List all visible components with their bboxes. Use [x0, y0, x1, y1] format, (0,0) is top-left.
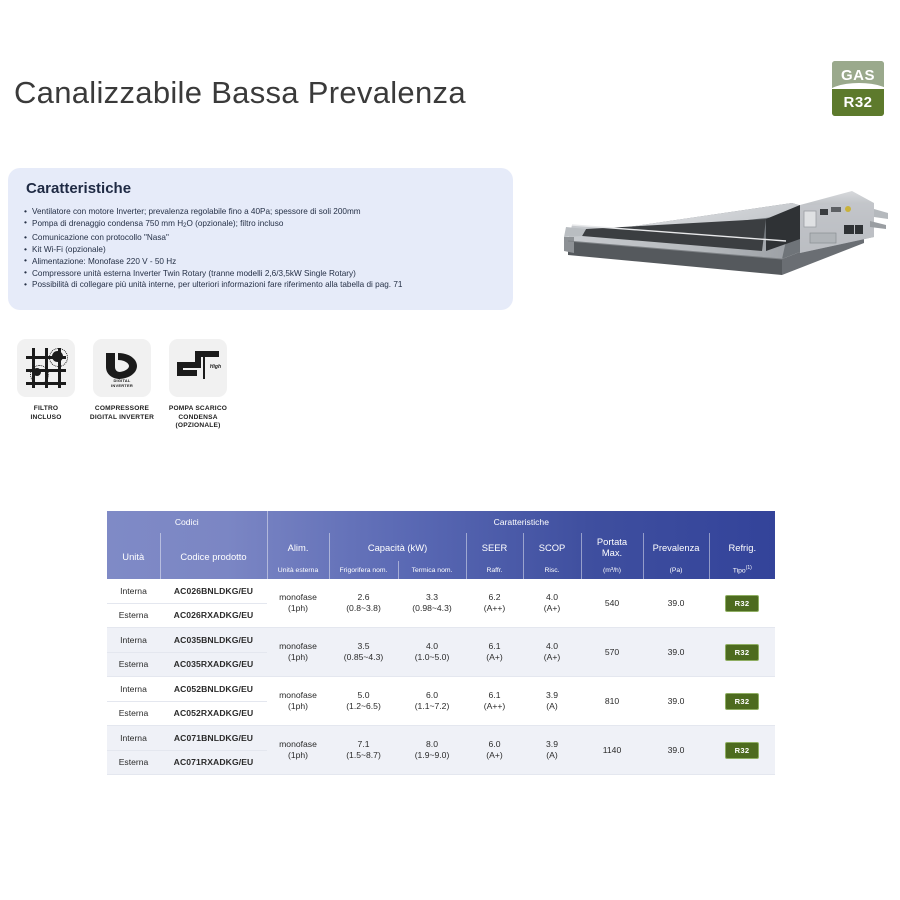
- cell-unita: Interna: [107, 677, 160, 702]
- header-refrig-tipo: Tipo: [733, 568, 746, 575]
- header-portata-sub: (m³/h): [581, 561, 643, 579]
- di-logo-shape: [104, 351, 140, 381]
- header-seer-sub: Raffr.: [466, 561, 523, 579]
- features-list: Ventilatore con motore Inverter; prevale…: [24, 206, 503, 291]
- specifications-table: Codici Caratteristiche Unità Codice prod…: [107, 511, 775, 775]
- digital-inverter-icon: DIGITAL INVERTER: [93, 339, 151, 397]
- high-label: High: [210, 364, 221, 370]
- icon-caption: FILTRO INCLUSO: [12, 405, 80, 422]
- cell-capacita-termica: 3.3(0.98~4.3): [398, 579, 466, 628]
- cell-alimentazione: monofase(1ph): [267, 726, 329, 775]
- header-group-codici: Codici: [107, 511, 267, 533]
- cell-portata-max: 540: [581, 579, 643, 628]
- header-portata-line1: Portata: [582, 536, 643, 547]
- header-alim-sub: Unità esterna: [267, 561, 329, 579]
- feature-item: Comunicazione con protocollo "Nasa": [24, 232, 503, 244]
- table-body: InternaAC026BNLDKG/EUmonofase(1ph)2.6(0.…: [107, 579, 775, 775]
- header-portata-max: Portata Max.: [581, 533, 643, 561]
- feature-text-suffix: O (opzionale); filtro incluso: [186, 219, 283, 228]
- table-head: Codici Caratteristiche Unità Codice prod…: [107, 511, 775, 579]
- header-group-caratteristiche: Caratteristiche: [267, 511, 775, 533]
- drain-pump-graphic: High: [177, 351, 219, 383]
- header-unita: Unità: [107, 533, 160, 579]
- cell-capacita-frigorifera: 3.5(0.85~4.3): [329, 628, 398, 677]
- drain-pump-icon: High: [169, 339, 227, 397]
- cell-unita: Esterna: [107, 603, 160, 628]
- refrigerant-badge: R32: [725, 742, 760, 759]
- icon-badge-compressore-digital-inverter: DIGITAL INVERTER COMPRESSORE DIGITAL INV…: [88, 339, 156, 422]
- ducted-unit-illustration: [552, 163, 888, 315]
- features-panel: Caratteristiche Ventilatore con motore I…: [8, 168, 513, 310]
- cell-seer: 6.1(A+): [466, 628, 523, 677]
- cell-unita: Esterna: [107, 701, 160, 726]
- cell-prevalenza: 39.0: [643, 677, 709, 726]
- header-refrig-sub: Tipo(1): [709, 561, 775, 579]
- cell-capacita-termica: 6.0(1.1~7.2): [398, 677, 466, 726]
- icon-caption-line: (OPZIONALE): [164, 422, 232, 431]
- header-seer: SEER: [466, 533, 523, 561]
- cell-codice-prodotto: AC035RXADKG/EU: [160, 652, 267, 677]
- digital-inverter-wordmark: DIGITAL INVERTER: [104, 378, 140, 388]
- header-codice-prodotto: Codice prodotto: [160, 533, 267, 579]
- header-alim: Alim.: [267, 533, 329, 561]
- feature-item: Compressore unità esterna Inverter Twin …: [24, 268, 503, 280]
- refrigerant-badge: R32: [725, 644, 760, 661]
- cell-scop: 3.9(A): [523, 726, 581, 775]
- icon-badge-filtro-incluso: FILTRO INCLUSO: [12, 339, 80, 422]
- icon-caption-line: DIGITAL INVERTER: [88, 414, 156, 423]
- header-prevalenza-sub: (Pa): [643, 561, 709, 579]
- header-refrig: Refrig.: [709, 533, 775, 561]
- cell-codice-prodotto: AC026RXADKG/EU: [160, 603, 267, 628]
- cell-unita: Interna: [107, 726, 160, 751]
- header-portata-line2: Max.: [582, 547, 643, 558]
- icon-badge-pompa-scarico-condensa: High POMPA SCARICO CONDENSA (OPZIONALE): [164, 339, 232, 431]
- cell-seer: 6.0(A+): [466, 726, 523, 775]
- cell-capacita-frigorifera: 7.1(1.5~8.7): [329, 726, 398, 775]
- cell-scop: 4.0(A+): [523, 628, 581, 677]
- cell-prevalenza: 39.0: [643, 628, 709, 677]
- cell-unita: Esterna: [107, 750, 160, 775]
- icon-caption-line: CONDENSA: [164, 414, 232, 423]
- feature-item: Possibilità di collegare più unità inter…: [24, 279, 503, 291]
- header-capacita: Capacità (kW): [329, 533, 466, 561]
- icon-caption-line: FILTRO: [12, 405, 80, 414]
- refrigerant-badge: R32: [725, 693, 760, 710]
- header-capacita-frigorifera: Frigorifera nom.: [329, 561, 398, 579]
- feature-item: Alimentazione: Monofase 220 V - 50 Hz: [24, 256, 503, 268]
- icon-caption-line: INCLUSO: [12, 414, 80, 423]
- cell-portata-max: 570: [581, 628, 643, 677]
- feature-item: Kit Wi-Fi (opzionale): [24, 244, 503, 256]
- feature-text-prefix: Pompa di drenaggio condensa 750 mm H: [32, 219, 183, 228]
- product-image-ducted-unit: [552, 163, 888, 315]
- header-scop-sub: Risc.: [523, 561, 581, 579]
- cell-codice-prodotto: AC035BNLDKG/EU: [160, 628, 267, 653]
- cell-codice-prodotto: AC026BNLDKG/EU: [160, 579, 267, 603]
- cell-scop: 3.9(A): [523, 677, 581, 726]
- table-row: InternaAC071BNLDKG/EUmonofase(1ph)7.1(1.…: [107, 726, 775, 751]
- cell-capacita-frigorifera: 2.6(0.8~3.8): [329, 579, 398, 628]
- r32-label: R32: [832, 89, 884, 116]
- cell-refrigerante: R32: [709, 579, 775, 628]
- table-header-main-row: Unità Codice prodotto Alim. Capacità (kW…: [107, 533, 775, 561]
- header-prevalenza: Prevalenza: [643, 533, 709, 561]
- cell-codice-prodotto: AC052RXADKG/EU: [160, 701, 267, 726]
- digital-inverter-graphic: DIGITAL INVERTER: [104, 351, 140, 387]
- specifications-table-wrapper: Codici Caratteristiche Unità Codice prod…: [107, 511, 775, 775]
- header-scop: SCOP: [523, 533, 581, 561]
- features-heading: Caratteristiche: [26, 180, 131, 197]
- cell-capacita-termica: 8.0(1.9~9.0): [398, 726, 466, 775]
- cell-prevalenza: 39.0: [643, 579, 709, 628]
- cell-portata-max: 810: [581, 677, 643, 726]
- cell-unita: Esterna: [107, 652, 160, 677]
- cell-refrigerante: R32: [709, 677, 775, 726]
- cell-unita: Interna: [107, 628, 160, 653]
- header-capacita-termica: Termica nom.: [398, 561, 466, 579]
- cell-refrigerante: R32: [709, 628, 775, 677]
- cell-capacita-frigorifera: 5.0(1.2~6.5): [329, 677, 398, 726]
- cell-unita: Interna: [107, 579, 160, 603]
- cell-alimentazione: monofase(1ph): [267, 677, 329, 726]
- table-row: InternaAC026BNLDKG/EUmonofase(1ph)2.6(0.…: [107, 579, 775, 603]
- germ-icon: [33, 368, 41, 376]
- feature-item: Ventilatore con motore Inverter; prevale…: [24, 206, 503, 218]
- header-refrig-footnote: (1): [746, 565, 752, 571]
- page-title: Canalizzabile Bassa Prevalenza: [14, 75, 466, 111]
- cell-codice-prodotto: AC052BNLDKG/EU: [160, 677, 267, 702]
- cell-portata-max: 1140: [581, 726, 643, 775]
- cell-seer: 6.2(A++): [466, 579, 523, 628]
- cell-refrigerante: R32: [709, 726, 775, 775]
- filter-icon: [17, 339, 75, 397]
- cell-scop: 4.0(A+): [523, 579, 581, 628]
- icon-caption: COMPRESSORE DIGITAL INVERTER: [88, 405, 156, 422]
- filter-mesh-graphic: [26, 348, 66, 388]
- cell-seer: 6.1(A++): [466, 677, 523, 726]
- cell-alimentazione: monofase(1ph): [267, 628, 329, 677]
- icon-caption-line: POMPA SCARICO: [164, 405, 232, 414]
- cell-codice-prodotto: AC071BNLDKG/EU: [160, 726, 267, 751]
- cell-alimentazione: monofase(1ph): [267, 579, 329, 628]
- gas-r32-badge: GAS R32: [832, 61, 884, 116]
- feature-item: Pompa di drenaggio condensa 750 mm H2O (…: [24, 218, 503, 233]
- cell-codice-prodotto: AC071RXADKG/EU: [160, 750, 267, 775]
- germ-icon: [52, 351, 63, 362]
- cell-prevalenza: 39.0: [643, 726, 709, 775]
- icon-caption: POMPA SCARICO CONDENSA (OPZIONALE): [164, 405, 232, 431]
- refrigerant-badge: R32: [725, 595, 760, 612]
- icon-caption-line: COMPRESSORE: [88, 405, 156, 414]
- cell-capacita-termica: 4.0(1.0~5.0): [398, 628, 466, 677]
- table-row: InternaAC052BNLDKG/EUmonofase(1ph)5.0(1.…: [107, 677, 775, 702]
- table-row: InternaAC035BNLDKG/EUmonofase(1ph)3.5(0.…: [107, 628, 775, 653]
- table-header-group-row: Codici Caratteristiche: [107, 511, 775, 533]
